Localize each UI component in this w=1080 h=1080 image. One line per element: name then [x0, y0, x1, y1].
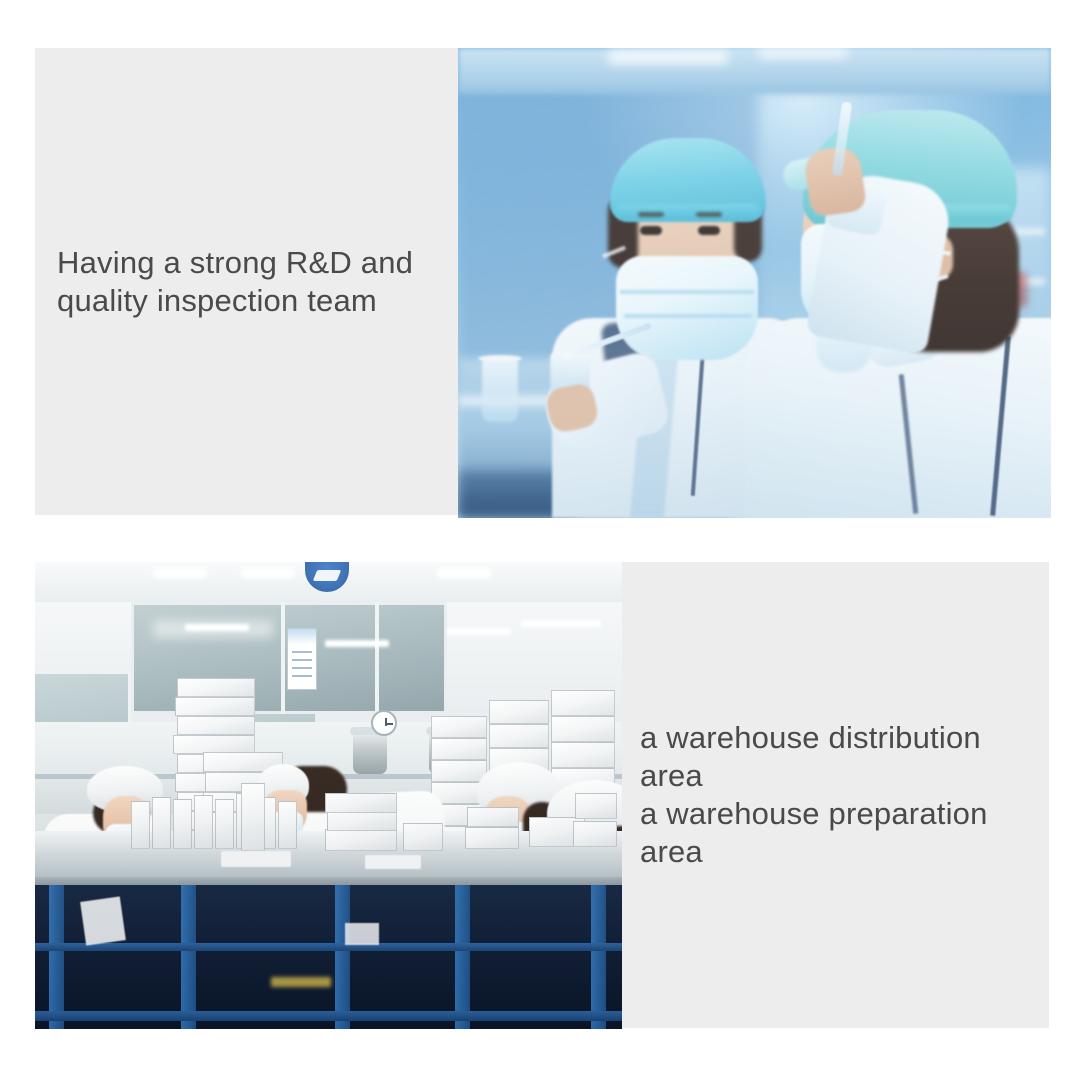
lab-beaker-icon [482, 358, 518, 422]
bottom-section: a warehouse distribution area a warehous… [35, 562, 1049, 1029]
bottom-caption-text: a warehouse distribution area a warehous… [640, 719, 1049, 870]
technician-eye [698, 226, 720, 235]
lab-beaker-rim [478, 355, 522, 362]
strip-light-icon [447, 628, 511, 635]
floor-marking [271, 977, 331, 987]
face-mask-pleat [620, 290, 754, 294]
top-caption-text: Having a strong R&D and quality inspecti… [57, 244, 458, 320]
lab-technician-profile [741, 74, 1051, 518]
wall-notice-poster [287, 628, 317, 690]
strip-light-icon [325, 640, 389, 647]
lab-ceiling-light-icon [608, 50, 728, 64]
top-section: Having a strong R&D and quality inspecti… [35, 48, 1057, 518]
lab-ceiling-light-icon [758, 48, 848, 58]
ceiling-light-icon [241, 568, 295, 578]
bottom-caption-panel: a warehouse distribution area a warehous… [622, 562, 1049, 1028]
window-mullion [375, 602, 379, 714]
warehouse-packing-photo [35, 562, 622, 1029]
window-mullion [281, 602, 285, 714]
under-table-area [35, 885, 622, 1029]
wall-clock-icon [371, 710, 397, 736]
product-boxes-stack [465, 783, 615, 853]
paper-sheet [80, 896, 126, 945]
table-rail [35, 943, 622, 951]
ceiling-light-icon [437, 568, 491, 578]
paper-sheet [345, 923, 379, 945]
strip-light-icon [521, 620, 601, 627]
product-boxes-stack [325, 789, 445, 853]
table-leg [49, 885, 64, 1029]
technician-eyebrow [696, 212, 722, 217]
face-mask-icon [616, 256, 758, 360]
ceiling-light-icon [153, 568, 207, 578]
table-leg [181, 885, 196, 1029]
technician-eye [640, 226, 662, 235]
face-mask-pleat [624, 314, 752, 318]
lab-inspection-photo [458, 48, 1051, 518]
product-boxes-row [131, 787, 311, 849]
page-root: Having a strong R&D and quality inspecti… [0, 0, 1080, 1080]
top-caption-panel: Having a strong R&D and quality inspecti… [35, 48, 458, 515]
table-rail [35, 1011, 622, 1021]
paper-sheet [365, 855, 421, 869]
table-leg [335, 885, 350, 1029]
table-leg [455, 885, 470, 1029]
table-leg [591, 885, 606, 1029]
product-bottle [241, 783, 265, 851]
paper-sheet [221, 851, 291, 867]
strip-light-icon [185, 624, 249, 631]
technician-eyebrow [638, 212, 664, 217]
